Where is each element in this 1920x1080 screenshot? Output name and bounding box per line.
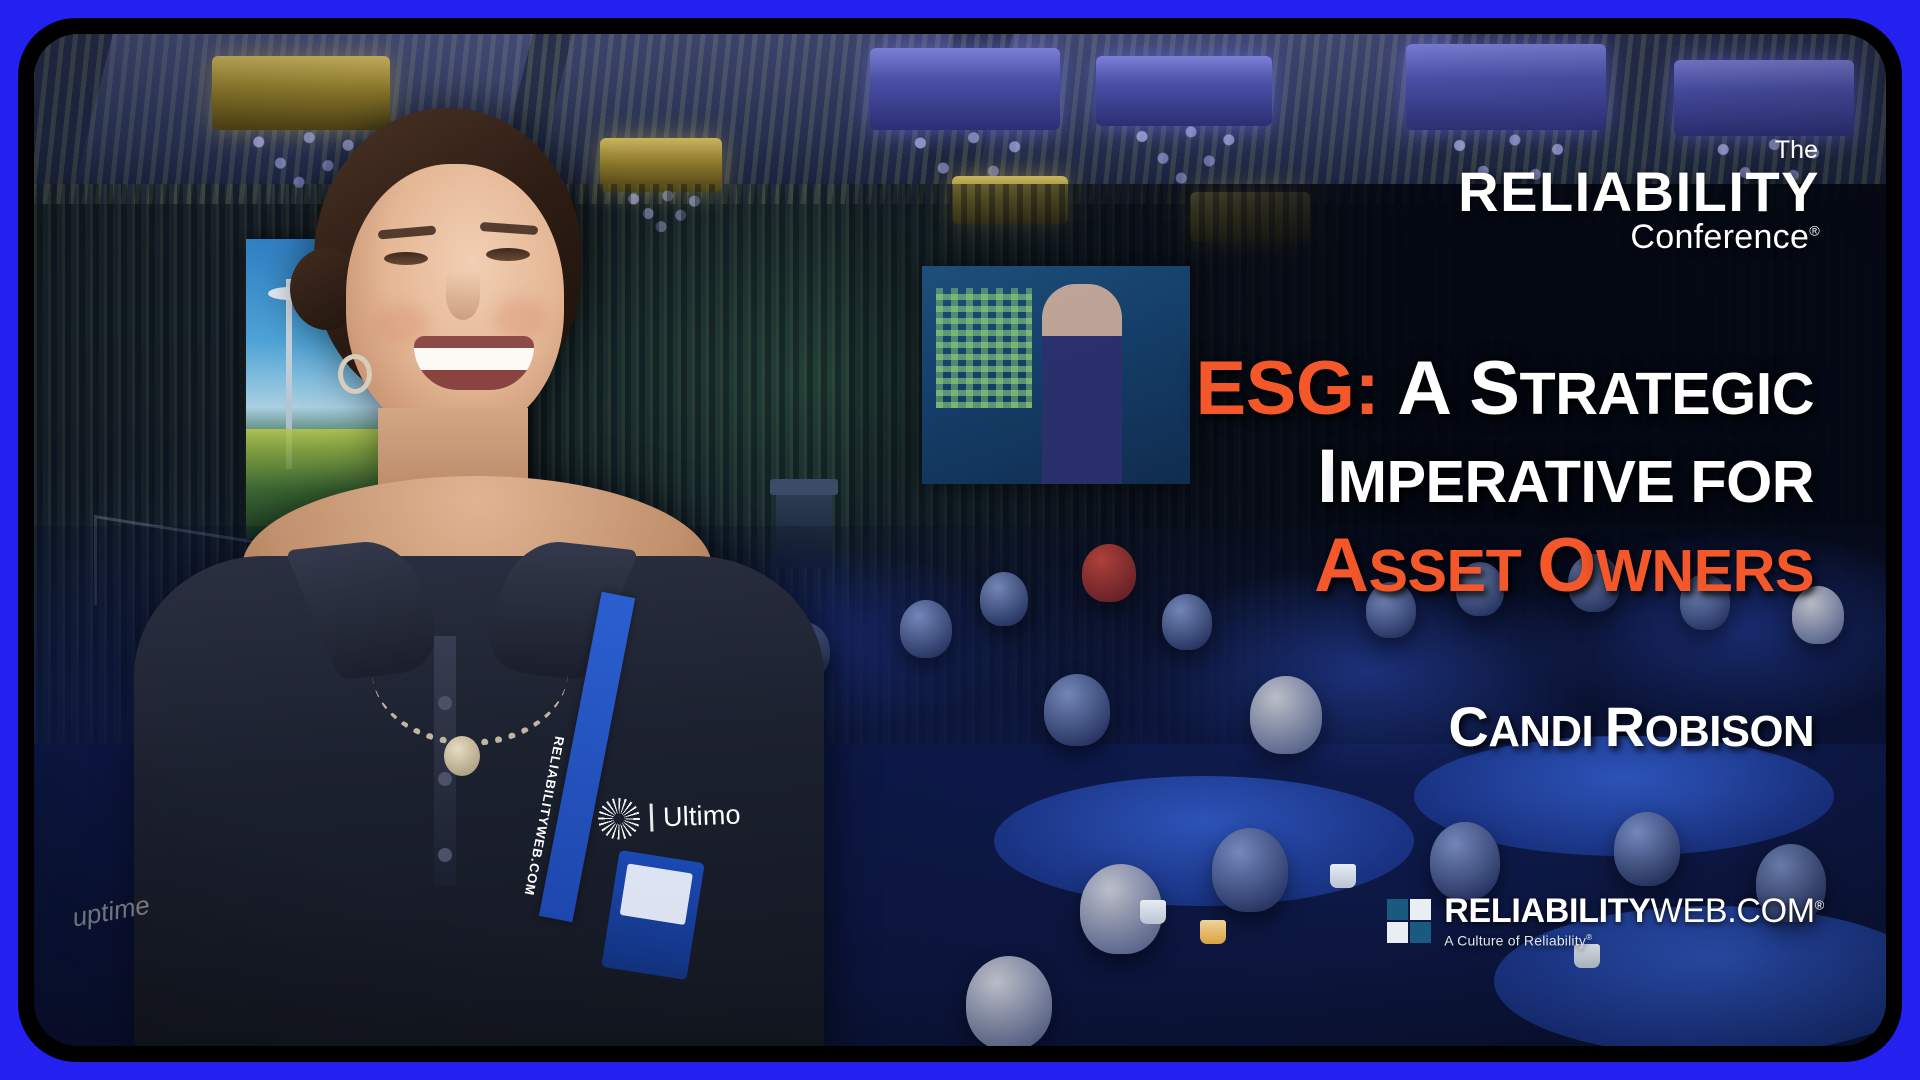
title-line2-smallcaps: MPERATIVE FOR: [1338, 448, 1814, 515]
the-reliability-conference-logo: The RELIABILITY Conference®: [1458, 138, 1820, 256]
drink-cup: [1200, 920, 1226, 944]
checker-square-1: [1387, 899, 1408, 920]
brand-divider: [650, 804, 654, 832]
title-line3-caps-o: O: [1537, 523, 1596, 608]
speaker-name-obison: OBISON: [1645, 707, 1814, 756]
trc-registered-mark: ®: [1809, 224, 1820, 240]
speaker-name: CANDI ROBISON: [954, 694, 1814, 759]
checker-square-3: [1387, 922, 1408, 943]
speaker-name-cap-r: R: [1605, 695, 1645, 758]
title-line3-smallcaps-owners: WNERS: [1596, 537, 1814, 604]
rw-registered-mark: ®: [1815, 898, 1824, 913]
video-thumbnail-stage: RELIABILITYWEB.COM Ultimo uptime The REL…: [34, 34, 1886, 1046]
checker-square-2: [1410, 899, 1431, 920]
chandelier-crystals: [1114, 120, 1254, 186]
coffee-cup: [1140, 900, 1166, 924]
audience-head: [1212, 828, 1288, 912]
title-esg-label: ESG:: [1196, 346, 1380, 431]
reliabilityweb-tagline: A Culture of Reliability®: [1444, 933, 1824, 948]
reliabilityweb-checker-icon: [1387, 899, 1431, 943]
badge-card: [620, 863, 693, 925]
trc-reliability-label: RELIABILITY: [1458, 163, 1820, 220]
ifs-sunburst-icon: [597, 797, 640, 840]
speaker-photo-cutout: RELIABILITYWEB.COM Ultimo uptime: [42, 36, 872, 1046]
title-line1-caps: A S: [1397, 346, 1519, 431]
title-line1-smallcaps: TRATEGIC: [1520, 360, 1815, 427]
shirt-brand-lockup: Ultimo: [597, 794, 741, 841]
checker-square-4: [1410, 922, 1431, 943]
coffee-cup: [1330, 864, 1356, 888]
audience-head: [900, 600, 952, 658]
trc-conference-label: Conference®: [1458, 220, 1820, 256]
reliabilityweb-brand-line: RELIABILITYWEB.COM®: [1444, 894, 1824, 928]
title-line3-caps-a: A: [1314, 523, 1368, 608]
title-line-2: IMPERATIVE FOR: [954, 440, 1814, 514]
shirt-button: [438, 848, 452, 862]
title-line3-smallcaps-asset: SSET: [1369, 537, 1538, 604]
video-title: ESG: A STRATEGIC IMPERATIVE FOR ASSET OW…: [954, 352, 1814, 603]
trc-conference-word: Conference: [1630, 218, 1809, 256]
shirt-button: [438, 772, 452, 786]
speaker-necklace-chain: [372, 596, 568, 746]
reliabilityweb-wordmark: RELIABILITYWEB.COM® A Culture of Reliabi…: [1444, 894, 1824, 948]
rw-tagline-text: A Culture of Reliability: [1444, 933, 1586, 949]
speaker-name-andi: ANDI: [1488, 707, 1604, 756]
chandelier-drum: [1406, 44, 1606, 130]
conference-badge: [601, 850, 704, 980]
rw-brand-light: WEB.COM: [1651, 892, 1815, 930]
chandelier-drum: [870, 48, 1060, 130]
rw-tagline-mark: ®: [1586, 932, 1592, 942]
speaker-necklace-pendant: [444, 736, 480, 776]
rw-brand-bold: RELIABILITY: [1444, 892, 1650, 930]
speaker-name-cap-c: C: [1448, 695, 1488, 758]
shirt-brand-label: Ultimo: [662, 799, 741, 833]
title-line2-caps: I: [1317, 434, 1338, 519]
chandelier-drum: [1674, 60, 1854, 136]
speaker-hoop-earring: [338, 354, 372, 394]
reliabilityweb-logo: RELIABILITYWEB.COM® A Culture of Reliabi…: [1387, 894, 1824, 948]
title-line-1: ESG: A STRATEGIC: [954, 352, 1814, 426]
audience-head: [1430, 822, 1500, 900]
speaker-eye: [486, 248, 530, 261]
speaker-eye: [384, 252, 428, 265]
audience-head: [966, 956, 1052, 1046]
speaker-cheek: [494, 298, 548, 338]
title-line-3: ASSET OWNERS: [954, 529, 1814, 603]
speaker-nose: [446, 272, 480, 320]
audience-head: [1614, 812, 1680, 886]
black-bezel: RELIABILITYWEB.COM Ultimo uptime The REL…: [18, 18, 1902, 1062]
outer-blue-frame: RELIABILITYWEB.COM Ultimo uptime The REL…: [0, 0, 1920, 1080]
chandelier-drum: [1096, 56, 1272, 126]
